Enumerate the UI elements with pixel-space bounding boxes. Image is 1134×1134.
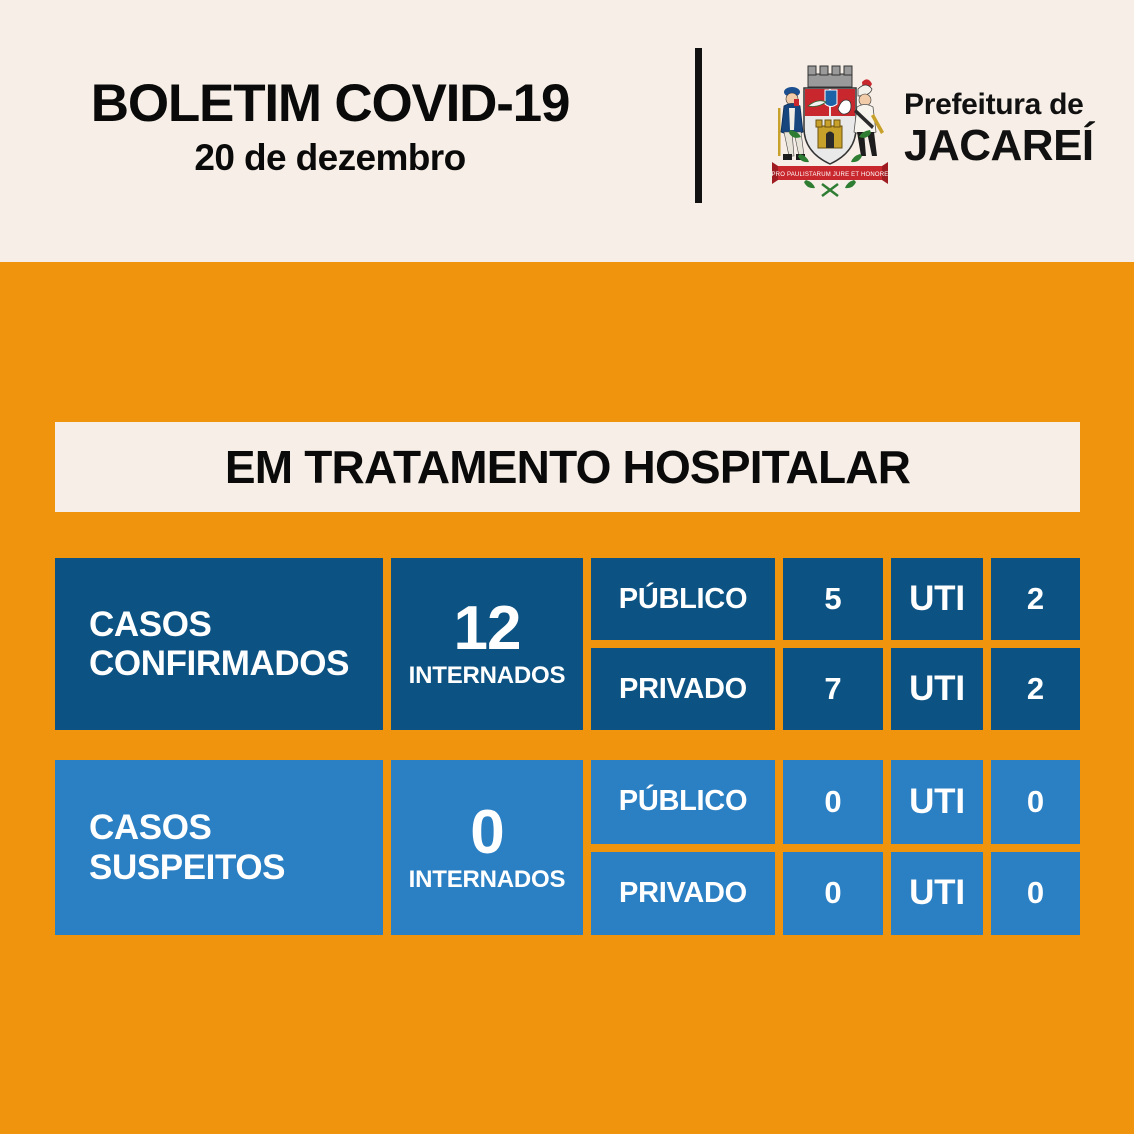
header-title-block: BOLETIM COVID-19 20 de dezembro (0, 76, 660, 180)
header-band: BOLETIM COVID-19 20 de dezembro (0, 0, 1134, 262)
confirmed-publico-count-cell: 5 (783, 558, 883, 640)
suspected-privado-count-value: 0 (824, 875, 841, 911)
bulletin-date: 20 de dezembro (194, 136, 465, 180)
suspected-privado-uti-label: UTI (909, 873, 965, 913)
suspected-privado-sector-label: PRIVADO (619, 877, 747, 910)
suspected-publico-sector-label: PÚBLICO (619, 785, 747, 818)
confirmed-privado-sector-cell: PRIVADO (591, 648, 775, 730)
suspected-publico-uti-label-cell: UTI (891, 760, 983, 844)
suspected-total-number: 0 (470, 802, 503, 864)
suspected-privado-count-cell: 0 (783, 852, 883, 936)
confirmed-total-number: 12 (454, 598, 521, 660)
confirmed-label-line1: CASOS (89, 605, 349, 644)
confirmed-publico-uti-label: UTI (909, 579, 965, 619)
table-row: PRIVADO 7 UTI 2 (591, 648, 1080, 730)
suspected-publico-count-cell: 0 (783, 760, 883, 844)
confirmed-publico-sector-label: PÚBLICO (619, 583, 747, 616)
section-title: EM TRATAMENTO HOSPITALAR (225, 440, 910, 494)
svg-text:PRO PAULISTARUM JURE ET HONORE: PRO PAULISTARUM JURE ET HONORE (771, 172, 888, 178)
section-banner: EM TRATAMENTO HOSPITALAR (55, 422, 1080, 512)
jacarei-coat-of-arms-icon: PRO PAULISTARUM JURE ET HONORE (770, 54, 890, 204)
confirmed-total-caption: INTERNADOS (409, 662, 566, 690)
suspected-total-caption: INTERNADOS (409, 866, 566, 894)
confirmed-privado-uti-label: UTI (909, 669, 965, 709)
confirmed-privado-count-value: 7 (824, 671, 841, 707)
table-row: PÚBLICO 0 UTI 0 (591, 760, 1080, 844)
confirmed-detail-grid: PÚBLICO 5 UTI 2 PRIVADO 7 UTI 2 (591, 558, 1080, 730)
suspected-privado-uti-value: 0 (1027, 875, 1044, 911)
suspected-total-panel: 0 INTERNADOS (391, 760, 583, 935)
suspected-label-panel: CASOS SUSPEITOS (55, 760, 383, 935)
suspected-publico-count-value: 0 (824, 784, 841, 820)
suspected-publico-uti-value-cell: 0 (991, 760, 1080, 844)
header-vertical-divider (695, 48, 702, 203)
confirmed-total-panel: 12 INTERNADOS (391, 558, 583, 730)
confirmed-label-line2: CONFIRMADOS (89, 644, 349, 683)
confirmed-publico-sector-cell: PÚBLICO (591, 558, 775, 640)
prefeitura-label: Prefeitura de (904, 90, 1094, 120)
confirmed-publico-uti-label-cell: UTI (891, 558, 983, 640)
confirmed-privado-sector-label: PRIVADO (619, 673, 747, 706)
confirmed-privado-uti-label-cell: UTI (891, 648, 983, 730)
suspected-label-line1: CASOS (89, 808, 285, 847)
confirmed-privado-uti-value: 2 (1027, 671, 1044, 707)
suspected-privado-uti-value-cell: 0 (991, 852, 1080, 936)
suspected-cases-group: CASOS SUSPEITOS 0 INTERNADOS PÚBLICO 0 U… (55, 760, 1080, 935)
table-row: PRIVADO 0 UTI 0 (591, 852, 1080, 936)
suspected-detail-grid: PÚBLICO 0 UTI 0 PRIVADO 0 UTI 0 (591, 760, 1080, 935)
table-row: PÚBLICO 5 UTI 2 (591, 558, 1080, 640)
confirmed-privado-uti-value-cell: 2 (991, 648, 1080, 730)
suspected-privado-sector-cell: PRIVADO (591, 852, 775, 936)
city-name: JACAREÍ (904, 124, 1094, 168)
confirmed-label-text: CASOS CONFIRMADOS (89, 605, 349, 683)
prefeitura-wordmark: Prefeitura de JACAREÍ (904, 90, 1094, 168)
suspected-label-text: CASOS SUSPEITOS (89, 808, 285, 886)
suspected-publico-sector-cell: PÚBLICO (591, 760, 775, 844)
suspected-publico-uti-label: UTI (909, 782, 965, 822)
confirmed-publico-uti-value: 2 (1027, 581, 1044, 617)
confirmed-privado-count-cell: 7 (783, 648, 883, 730)
confirmed-publico-uti-value-cell: 2 (991, 558, 1080, 640)
confirmed-publico-count-value: 5 (824, 581, 841, 617)
prefeitura-logo: PRO PAULISTARUM JURE ET HONORE Prefeitur… (770, 44, 1100, 214)
suspected-privado-uti-label-cell: UTI (891, 852, 983, 936)
confirmed-label-panel: CASOS CONFIRMADOS (55, 558, 383, 730)
page-title: BOLETIM COVID-19 (91, 76, 569, 132)
confirmed-cases-group: CASOS CONFIRMADOS 12 INTERNADOS PÚBLICO … (55, 558, 1080, 730)
suspected-label-line2: SUSPEITOS (89, 848, 285, 887)
suspected-publico-uti-value: 0 (1027, 784, 1044, 820)
